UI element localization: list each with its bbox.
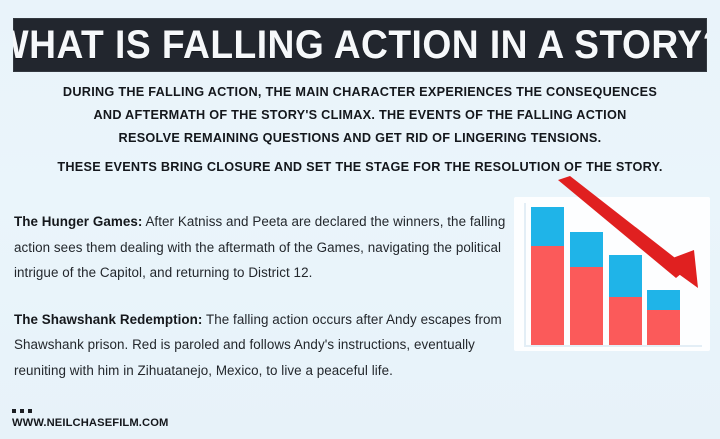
title-banner: WHAT IS FALLING ACTION IN A STORY?	[13, 18, 707, 72]
examples-column: The Hunger Games: After Katniss and Peet…	[14, 196, 506, 397]
chart-bar-3-upper-segment	[609, 255, 642, 297]
chart-y-axis	[524, 203, 526, 345]
chart-bar-2-upper-segment	[570, 232, 603, 267]
chart-bar-4-upper-segment	[647, 290, 680, 310]
chart-bar-3-lower-segment	[609, 297, 642, 345]
declining-bar-chart	[514, 197, 710, 351]
footer-dots-icon	[12, 409, 168, 413]
chart-bar-3	[609, 255, 642, 345]
subtitle-line-3: RESOLVE REMAINING QUESTIONS AND GET RID …	[24, 126, 695, 149]
chart-bar-2-lower-segment	[570, 267, 603, 345]
footer: WWW.NEILCHASEFILM.COM	[12, 409, 168, 429]
chart-x-axis	[524, 345, 702, 347]
chart-bar-4-lower-segment	[647, 310, 680, 345]
footer-dot	[28, 409, 32, 413]
example-lead-label: The Shawshank Redemption:	[14, 312, 202, 327]
chart-bar-1	[531, 207, 564, 345]
chart-bar-2	[570, 232, 603, 345]
infographic-poster: WHAT IS FALLING ACTION IN A STORY? DURIN…	[0, 0, 720, 439]
chart-plot-area	[514, 197, 710, 351]
chart-bar-1-lower-segment	[531, 246, 564, 345]
subtitle-block: DURING THE FALLING ACTION, THE MAIN CHAR…	[14, 80, 706, 178]
subtitle-line-2: AND AFTERMATH OF THE STORY'S CLIMAX. THE…	[24, 103, 695, 126]
footer-dot	[20, 409, 24, 413]
footer-dot	[12, 409, 16, 413]
chart-bar-1-upper-segment	[531, 207, 564, 246]
footer-website-url: WWW.NEILCHASEFILM.COM	[12, 417, 168, 429]
example-lead-label: The Hunger Games:	[14, 214, 142, 229]
subtitle-line-1: DURING THE FALLING ACTION, THE MAIN CHAR…	[24, 80, 695, 103]
subtitle-closing-line: THESE EVENTS BRING CLOSURE AND SET THE S…	[24, 155, 695, 178]
page-title: WHAT IS FALLING ACTION IN A STORY?	[13, 25, 707, 65]
example-hunger-games: The Hunger Games: After Katniss and Peet…	[14, 209, 506, 286]
chart-bar-4	[647, 290, 680, 345]
example-shawshank-redemption: The Shawshank Redemption: The falling ac…	[14, 307, 506, 384]
